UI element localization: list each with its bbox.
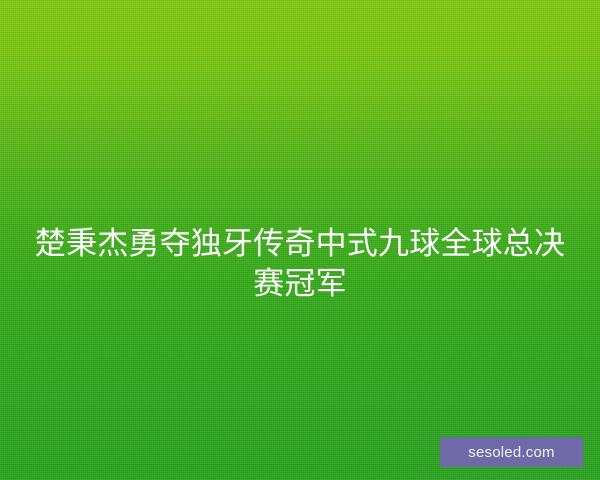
- watermark-badge: sesoled.com: [440, 437, 583, 467]
- watermark-label: sesoled.com: [468, 445, 554, 460]
- title-card: 楚秉杰勇夺独牙传奇中式九球全球总决赛冠军 sesoled.com: [0, 0, 600, 480]
- page-title: 楚秉杰勇夺独牙传奇中式九球全球总决赛冠军: [0, 224, 600, 304]
